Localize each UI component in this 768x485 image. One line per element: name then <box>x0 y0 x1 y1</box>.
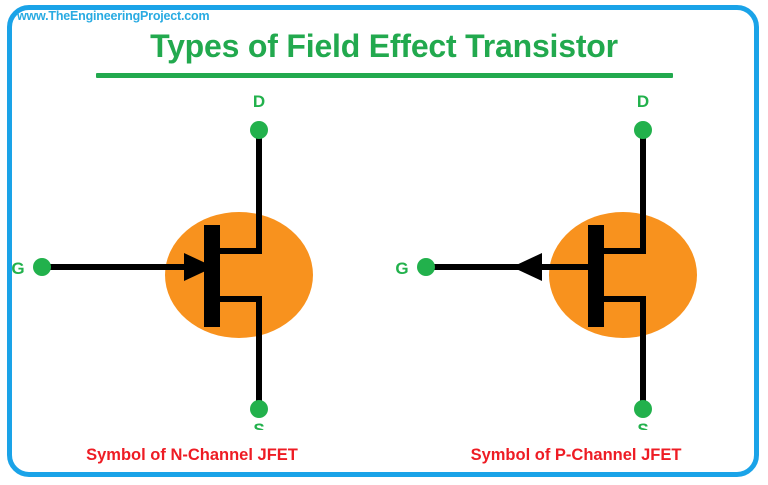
source-terminal-dot[interactable] <box>250 400 268 418</box>
gate-terminal-label: G <box>11 259 24 278</box>
n-channel-jfet-diagram: D S G <box>0 85 384 430</box>
n-channel-jfet-symbol: D S G <box>0 85 384 430</box>
page-title: Types of Field Effect Transistor <box>0 28 768 65</box>
drain-terminal-label: D <box>637 92 649 111</box>
gate-arrow-left-icon <box>512 253 542 281</box>
p-channel-jfet-symbol: D S G <box>384 85 768 430</box>
gate-bar <box>204 225 220 327</box>
gate-terminal-dot[interactable] <box>417 258 435 276</box>
drain-terminal-dot[interactable] <box>634 121 652 139</box>
infographic-page: www.TheEngineeringProject.com Types of F… <box>0 0 768 485</box>
drain-terminal-dot[interactable] <box>250 121 268 139</box>
channel-body-ellipse <box>549 212 697 338</box>
p-channel-jfet-diagram: D S G <box>384 85 768 430</box>
p-channel-jfet-caption: Symbol of P-Channel JFET <box>384 446 768 465</box>
n-channel-jfet-caption: Symbol of N-Channel JFET <box>0 446 384 465</box>
title-underline <box>96 73 673 78</box>
source-terminal-dot[interactable] <box>634 400 652 418</box>
source-terminal-label: S <box>637 420 648 430</box>
gate-terminal-dot[interactable] <box>33 258 51 276</box>
gate-bar <box>588 225 604 327</box>
gate-terminal-label: G <box>395 259 408 278</box>
site-url-watermark: www.TheEngineeringProject.com <box>17 9 209 23</box>
source-terminal-label: S <box>253 420 264 430</box>
drain-terminal-label: D <box>253 92 265 111</box>
